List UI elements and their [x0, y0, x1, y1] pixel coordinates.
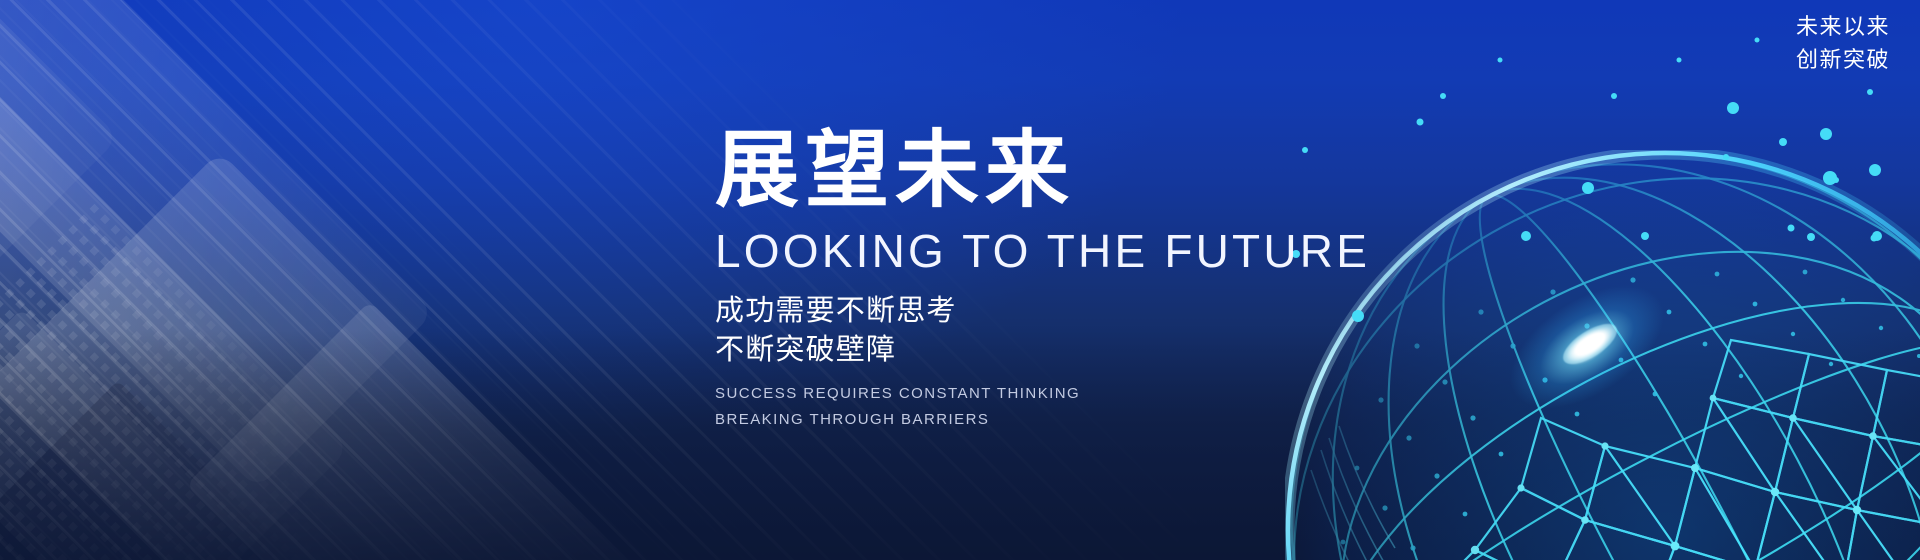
corner-slogan-line-1: 未来以来 [1796, 10, 1890, 43]
headline-chinese: 展望未来 [715, 128, 1370, 212]
flare-core [1557, 316, 1623, 372]
geo-dark-rect [0, 380, 415, 560]
geo-rounded-rect [0, 80, 350, 560]
tagline-english-block: SUCCESS REQUIRES CONSTANT THINKING BREAK… [715, 381, 1370, 433]
globe-glow [1285, 150, 1920, 560]
corner-slogan: 未来以来 创新突破 [1796, 10, 1890, 77]
wireframe-globe-icon [1285, 150, 1920, 560]
promo-banner: 展望未来 LOOKING TO THE FUTURE 成功需要不断思考 不断突破… [0, 0, 1920, 560]
headline-english: LOOKING TO THE FUTURE [715, 228, 1370, 274]
tagline-english-line-2: BREAKING THROUGH BARRIERS [715, 407, 1370, 433]
tagline-chinese-block: 成功需要不断思考 不断突破壁障 [715, 292, 1370, 370]
globe-graphic [1285, 150, 1920, 560]
tagline-chinese-line-2: 不断突破壁障 [715, 331, 1370, 370]
light-flare-icon [1451, 227, 1723, 467]
geo-rounded-rect [0, 151, 644, 560]
tagline-chinese-line-1: 成功需要不断思考 [715, 292, 1370, 331]
corner-slogan-line-2: 创新突破 [1796, 43, 1890, 76]
geo-dot-grid [0, 198, 397, 560]
tagline-english-line-1: SUCCESS REQUIRES CONSTANT THINKING [715, 381, 1370, 407]
geo-rounded-rect [0, 308, 277, 560]
geo-rounded-rect [0, 0, 119, 279]
geo-rounded-rect [0, 0, 434, 489]
copy-block: 展望未来 LOOKING TO THE FUTURE 成功需要不断思考 不断突破… [715, 128, 1370, 432]
geo-rounded-rect [186, 301, 674, 560]
